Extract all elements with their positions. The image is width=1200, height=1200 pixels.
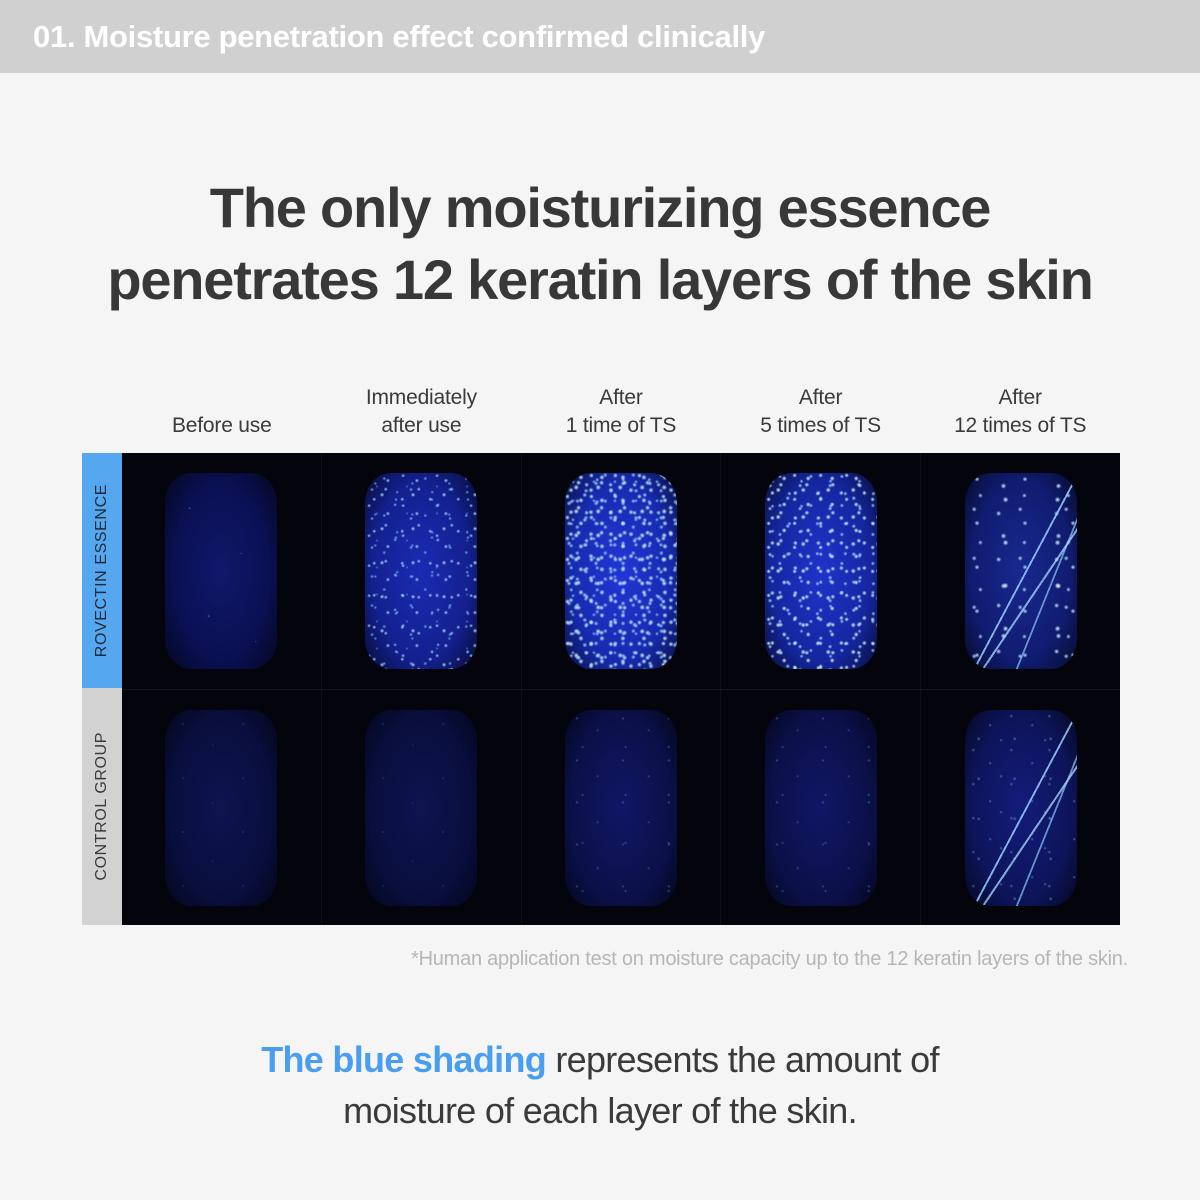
headline-line-2: penetrates 12 keratin layers of the skin — [0, 244, 1200, 316]
tissue-patch — [965, 710, 1077, 906]
grid-row-control-group — [122, 689, 1120, 925]
section-header-bar: 01. Moisture penetration effect confirme… — [0, 0, 1200, 73]
fluorescence-speckle — [765, 473, 877, 669]
tissue-patch — [165, 710, 277, 906]
legend-highlight: The blue shading — [261, 1039, 546, 1080]
fluorescence-speckle — [365, 710, 477, 906]
grid-cell-control-after-1-time — [522, 690, 722, 925]
fluorescence-streaks — [965, 710, 1077, 906]
column-header-line-1: After — [799, 384, 842, 411]
grid-cell-control-before-use — [122, 690, 322, 925]
tissue-patch — [365, 473, 477, 669]
column-header-line-2: 1 time of TS — [566, 412, 676, 439]
fluorescence-speckle — [965, 473, 1077, 669]
fluorescence-speckle — [165, 473, 277, 669]
tissue-patch — [765, 473, 877, 669]
tissue-patch — [365, 710, 477, 906]
tissue-patch — [565, 473, 677, 669]
column-header-line-1: After — [998, 384, 1041, 411]
grid-cell-control-after-5-times — [721, 690, 921, 925]
grid-cell-essence-after-5-times — [721, 453, 921, 689]
row-label-rovectin-essence: ROVECTIN ESSENCE — [82, 453, 122, 688]
legend-rest-line-1: represents the amount of — [546, 1039, 939, 1080]
grid-row-rovectin-essence — [122, 453, 1120, 689]
grid-cell-essence-before-use — [122, 453, 322, 689]
column-header-line-2: after use — [381, 412, 461, 439]
column-header-line-2: 5 times of TS — [760, 412, 881, 439]
column-header-immediately-after-use: Immediately after use — [322, 375, 522, 441]
row-label-control-group: CONTROL GROUP — [82, 688, 122, 925]
tissue-patch — [165, 473, 277, 669]
section-header-title: 01. Moisture penetration effect confirme… — [0, 19, 765, 55]
column-header-row: Before use Immediately after use After 1… — [122, 375, 1120, 441]
promo-page: 01. Moisture penetration effect confirme… — [0, 0, 1200, 1200]
row-label-text: CONTROL GROUP — [93, 732, 111, 881]
column-header-after-1-time: After 1 time of TS — [521, 375, 721, 441]
column-header-line-1: Immediately — [366, 384, 477, 411]
fluorescence-speckle — [165, 710, 277, 906]
fluorescence-speckle — [365, 473, 477, 669]
column-header-line-2: 12 times of TS — [954, 412, 1086, 439]
tissue-patch — [765, 710, 877, 906]
fluorescence-speckle — [965, 710, 1077, 906]
row-label-text: ROVECTIN ESSENCE — [93, 484, 111, 657]
grid-cell-control-after-12-times — [921, 690, 1120, 925]
tissue-patch — [965, 473, 1077, 669]
legend-caption: The blue shading represents the amount o… — [0, 1034, 1200, 1136]
fluorescence-speckle — [565, 710, 677, 906]
grid-cell-essence-after-12-times — [921, 453, 1120, 689]
grid-cell-control-immediately-after-use — [322, 690, 522, 925]
column-header-line-1: After — [599, 384, 642, 411]
fluorescence-speckle — [565, 473, 677, 669]
page-title: The only moisturizing essence penetrates… — [0, 172, 1200, 315]
footnote-text: *Human application test on moisture capa… — [0, 948, 1200, 971]
fluorescence-image-grid — [122, 453, 1120, 925]
column-header-before-use: Before use — [122, 375, 322, 441]
tissue-patch — [565, 710, 677, 906]
grid-cell-essence-after-1-time — [522, 453, 722, 689]
column-header-after-12-times: After 12 times of TS — [920, 375, 1120, 441]
fluorescence-streaks — [965, 473, 1077, 669]
fluorescence-speckle — [765, 710, 877, 906]
column-header-after-5-times: After 5 times of TS — [721, 375, 921, 441]
column-header-line-2: Before use — [172, 412, 272, 439]
headline-line-1: The only moisturizing essence — [210, 176, 991, 239]
grid-cell-essence-immediately-after-use — [322, 453, 522, 689]
legend-line-2: moisture of each layer of the skin. — [0, 1085, 1200, 1136]
row-label-column: ROVECTIN ESSENCE CONTROL GROUP — [82, 453, 122, 925]
